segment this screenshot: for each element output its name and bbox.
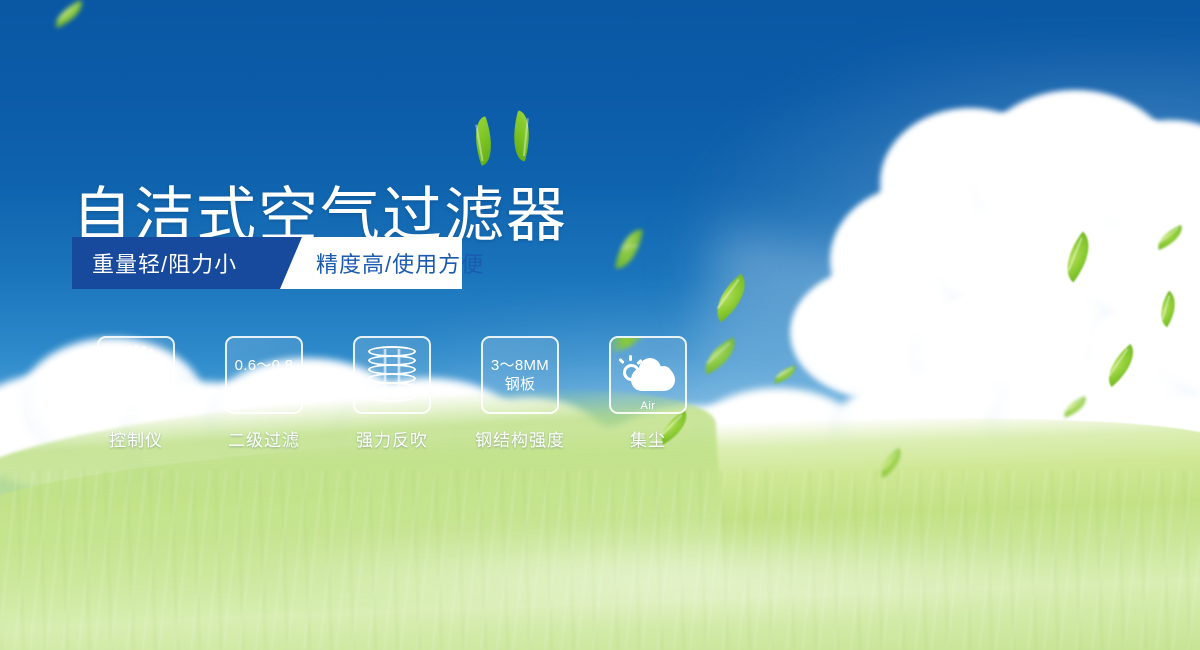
pressure-unit: MPA xyxy=(248,375,280,394)
subtitle-left-text: 重量轻/阻力小 xyxy=(92,237,237,289)
coil-filter-icon xyxy=(368,346,416,404)
feature-item-dust-collection[interactable]: Air 集尘 xyxy=(584,336,712,451)
product-banner: 自洁式空气过滤器 重量轻/阻力小 精度高/使用方便 xyxy=(0,0,1200,650)
feature-icon-box: Air xyxy=(609,336,687,414)
gauge-on-label: NO xyxy=(104,373,114,379)
steel-material: 钢板 xyxy=(505,375,536,394)
feature-icon-box: NO OFF xyxy=(97,336,175,414)
feature-icon-box xyxy=(353,336,431,414)
gauge-icon: NO OFF xyxy=(104,343,168,407)
feature-item-controller[interactable]: NO OFF 控制仪 xyxy=(72,336,200,451)
feature-icon-box: 3〜8MM 钢板 xyxy=(481,336,559,414)
pressure-value: 0.6〜0.8 xyxy=(235,356,294,375)
steel-thickness: 3〜8MM xyxy=(491,356,549,375)
feature-item-two-stage-filter[interactable]: 0.6〜0.8 MPA 二级过滤 xyxy=(200,336,328,451)
feature-icon-row: NO OFF 控制仪 0.6〜0.8 MPA 二级过滤 xyxy=(72,336,712,451)
sprout-leaf-left xyxy=(467,116,499,166)
feature-label: 控制仪 xyxy=(109,426,163,451)
feature-item-steel-strength[interactable]: 3〜8MM 钢板 钢结构强度 xyxy=(456,336,584,451)
air-label: Air xyxy=(619,400,677,412)
air-cloud-icon: Air xyxy=(619,353,677,397)
feature-label: 强力反吹 xyxy=(356,426,428,451)
feature-label: 钢结构强度 xyxy=(475,426,565,451)
gauge-off-label: OFF xyxy=(154,389,167,395)
feature-label: 集尘 xyxy=(630,426,666,451)
sprout-leaf-right xyxy=(506,110,536,161)
feature-item-back-blow[interactable]: 强力反吹 xyxy=(328,336,456,451)
banner-content: 自洁式空气过滤器 重量轻/阻力小 精度高/使用方便 xyxy=(0,0,1200,650)
feature-label: 二级过滤 xyxy=(228,426,300,451)
subtitle-right-text: 精度高/使用方便 xyxy=(316,237,484,289)
subtitle-tag-bar: 重量轻/阻力小 精度高/使用方便 xyxy=(72,237,462,289)
feature-icon-box: 0.6〜0.8 MPA xyxy=(225,336,303,414)
